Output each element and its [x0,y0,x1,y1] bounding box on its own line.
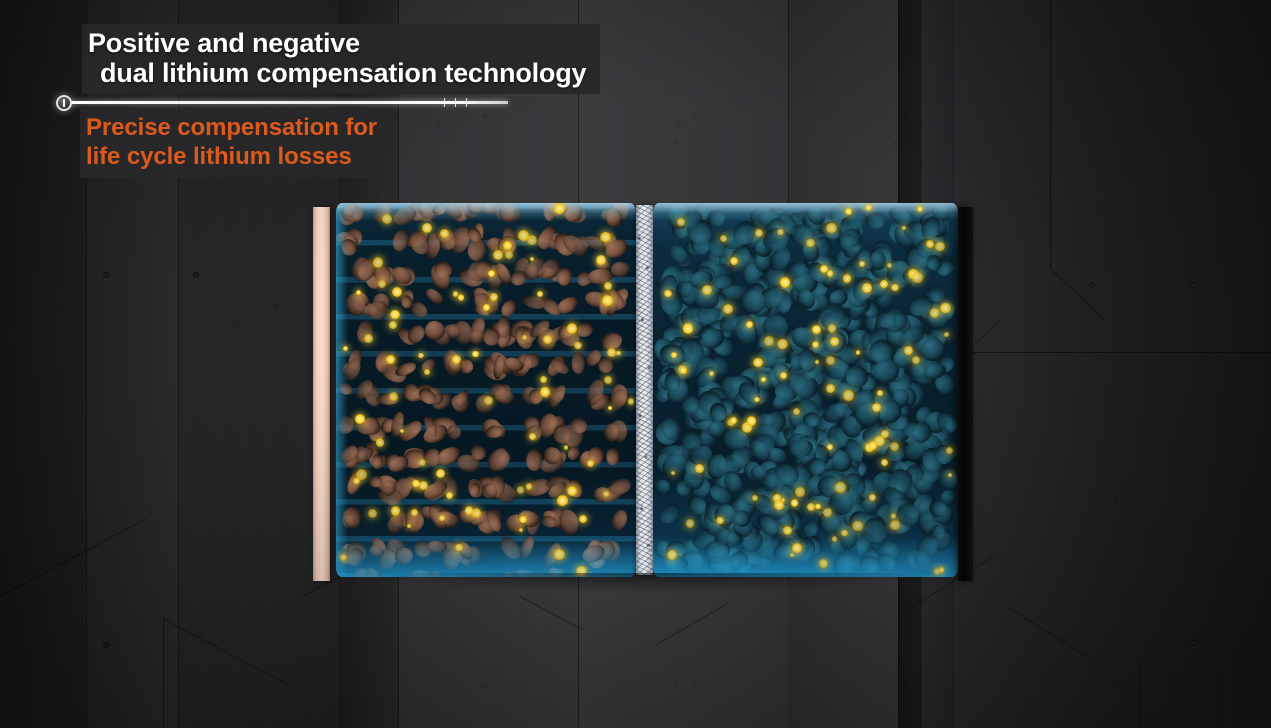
lithium-ion [702,285,712,295]
subtitle-block: Precise compensation for life cycle lith… [80,108,395,178]
lithium-ion [764,336,775,347]
lithium-ion [940,303,951,314]
lithium-ion [716,517,724,525]
lithium-ion [537,291,543,297]
lithium-ion [806,239,815,248]
lithium-ion [436,469,445,478]
title-line-1: Positive and negative [88,28,586,58]
lithium-ion [368,509,377,518]
lithium-ion [926,240,934,248]
lithium-ion [930,308,940,318]
lithium-ion [382,214,393,225]
divider-line [70,101,508,104]
lithium-ion [517,486,525,494]
scene-stage: Positive and negative dual lithium compe… [0,0,1271,728]
lithium-ion [529,433,536,440]
porous-separator-membrane [636,205,653,575]
lithium-ion [356,290,362,296]
lithium-ion [946,447,953,454]
divider-tick [444,98,445,107]
lithium-ion [671,352,677,358]
lithium-ion [407,524,411,528]
lithium-ion [557,495,568,506]
lithium-ion [856,350,861,355]
lithium-ion [518,230,529,241]
lithium-ion [835,482,846,493]
lithium-ion [616,351,621,356]
lithium-ion [887,263,892,268]
lithium-ion [730,257,738,265]
lithium-ion [458,294,465,301]
lithium-ion [530,257,534,261]
lithium-ion [792,543,802,553]
lithium-ion [845,208,852,215]
lithium-ion [422,223,432,233]
lithium-ion [720,235,727,242]
title-line-2: dual lithium compensation technology [88,58,586,88]
lithium-ion [869,441,878,450]
lithium-ion [411,509,418,516]
lithium-ion [576,566,587,577]
lithium-ion [440,229,449,238]
lithium-ion [596,255,606,265]
lithium-ion [543,335,552,344]
subtitle-line-1: Precise compensation for [86,113,377,142]
lithium-ion [587,460,594,467]
lithium-ion [828,324,836,332]
lithium-ion [709,371,714,376]
lithium-ion [607,348,616,357]
lithium-ion [777,339,788,350]
lithium-ion [935,242,945,252]
lithium-ion [373,257,384,268]
lithium-ion [843,274,852,283]
lithium-ion [567,323,578,334]
lithium-ion [859,261,865,267]
lithium-ion [783,526,792,535]
rivet-dot [1089,282,1095,288]
lithium-ion [880,280,888,288]
lithium-ion [418,353,424,359]
rivet-dot [193,272,199,278]
lithium-ion [567,486,577,496]
lithium-ion [934,568,940,574]
lithium-ion [386,355,395,364]
lithium-ion [452,355,461,364]
lithium-ion [400,429,404,433]
lithium-ion [826,223,837,234]
lithium-ion [540,387,550,397]
copper-current-collector [313,207,330,581]
lithium-ion [424,369,430,375]
lithium-ion [483,304,490,311]
lithium-ion [869,494,876,501]
aluminum-current-collector [958,207,973,581]
lithium-ion [862,283,872,293]
lithium-ion [877,390,884,397]
lithium-ion [827,444,833,450]
lithium-ion [554,549,564,559]
lithium-ion [446,492,453,499]
lithium-ion [574,342,582,350]
lithium-ion [781,498,785,502]
lithium-ion [815,504,821,510]
lithium-ion [419,481,428,490]
lithium-ion [392,287,403,298]
lithium-ion [820,265,828,273]
lithium-ion [603,491,609,497]
lithium-ion [695,464,704,473]
lithium-ion [891,513,897,519]
lithium-ion [819,559,828,568]
rivet-dot [1191,640,1197,646]
title-block: Positive and negative dual lithium compe… [82,24,600,94]
lithium-ion [944,332,948,336]
lithium-ion [912,356,921,365]
lithium-ion [390,310,400,320]
subtitle-line-2: life cycle lithium losses [86,142,377,171]
lithium-ion [812,341,819,348]
lithium-ion [355,414,365,424]
lithium-ion [628,398,635,405]
lithium-ion [600,232,611,243]
lithium-ion [823,508,832,517]
lithium-ion [540,376,547,383]
rivet-dot [103,272,109,278]
lithium-ion [830,337,839,346]
lithium-ion [671,471,675,475]
lithium-ion [453,291,459,297]
lithium-ion [791,499,799,507]
rivet-dot [1191,282,1197,288]
lithium-ion [902,226,906,230]
cathode-region [653,203,958,577]
lithium-ion [602,295,613,306]
lithium-ion [746,321,753,328]
lithium-ion [353,478,360,485]
pause-knob-icon [56,95,72,111]
lithium-ion [419,459,426,466]
lithium-ion [391,506,401,516]
lithium-ion [564,445,569,450]
lithium-ion [604,282,612,290]
lithium-ion [812,325,822,335]
lithium-ion [526,483,532,489]
lithium-ion [493,250,503,260]
lithium-ion [503,241,512,250]
lithium-ion [777,229,784,236]
anode-lithium-ion-field [336,203,636,577]
divider-tick [466,98,467,107]
lithium-ion [917,206,924,213]
lithium-ion [753,358,763,368]
lithium-ion [747,416,757,426]
lithium-ion [852,521,863,532]
lithium-ion [505,251,513,259]
lithium-ion [579,515,587,523]
lithium-ion [490,293,498,301]
lithium-ion [948,473,952,477]
lithium-ion [843,390,854,401]
lithium-ion [891,284,899,292]
lithium-ion [519,528,523,532]
lithium-ion [455,544,463,552]
lithium-ion [881,459,888,466]
cathode-lithium-ion-field [653,203,958,577]
lithium-ion [780,372,787,379]
lithium-ion [815,360,819,364]
lithium-ion [683,323,694,334]
lithium-ion [723,304,733,314]
lithium-ion [664,290,672,298]
lithium-ion [554,203,565,214]
lithium-ion [484,396,493,405]
lithium-ion [472,508,482,518]
lithium-ion [677,218,685,226]
lithium-ion [472,351,479,358]
lithium-ion [807,503,815,511]
lithium-ion [343,346,348,351]
lithium-ion [752,495,758,501]
lithium-ion [604,376,612,384]
lithium-ion [912,272,923,283]
lithium-ion [686,519,695,528]
lithium-ion [364,334,373,343]
lithium-ion [389,392,398,401]
lithium-ion [890,520,900,530]
lithium-ion [608,406,613,411]
lithium-ion [439,515,445,521]
lithium-ion [378,280,387,289]
lithium-ion [826,384,835,393]
lithium-ion [730,417,738,425]
graphite-anode-region [336,203,636,577]
lithium-ion [465,506,473,514]
lithium-ion [754,397,759,402]
lithium-ion [389,321,396,328]
rivet-dot [103,642,109,648]
lithium-ion [793,408,800,415]
lithium-ion [872,403,881,412]
lithium-ion [827,270,834,277]
lithium-ion [904,346,913,355]
lithium-ion [832,536,838,542]
battery-cell-cross-section [313,203,973,581]
lithium-ion [755,229,763,237]
lithium-ion [667,550,677,560]
lithium-ion [780,277,791,288]
lithium-ion [865,204,873,212]
divider-tick [455,98,456,107]
lithium-ion [340,554,347,561]
lithium-ion [890,442,899,451]
lithium-ion [841,530,847,536]
lithium-ion [488,270,495,277]
lithium-ion [761,377,766,382]
lithium-ion [522,335,527,340]
lithium-ion [826,356,836,366]
lithium-ion [376,438,384,446]
lithium-ion [790,553,794,557]
lithium-ion [795,487,805,497]
lithium-ion [519,516,527,524]
